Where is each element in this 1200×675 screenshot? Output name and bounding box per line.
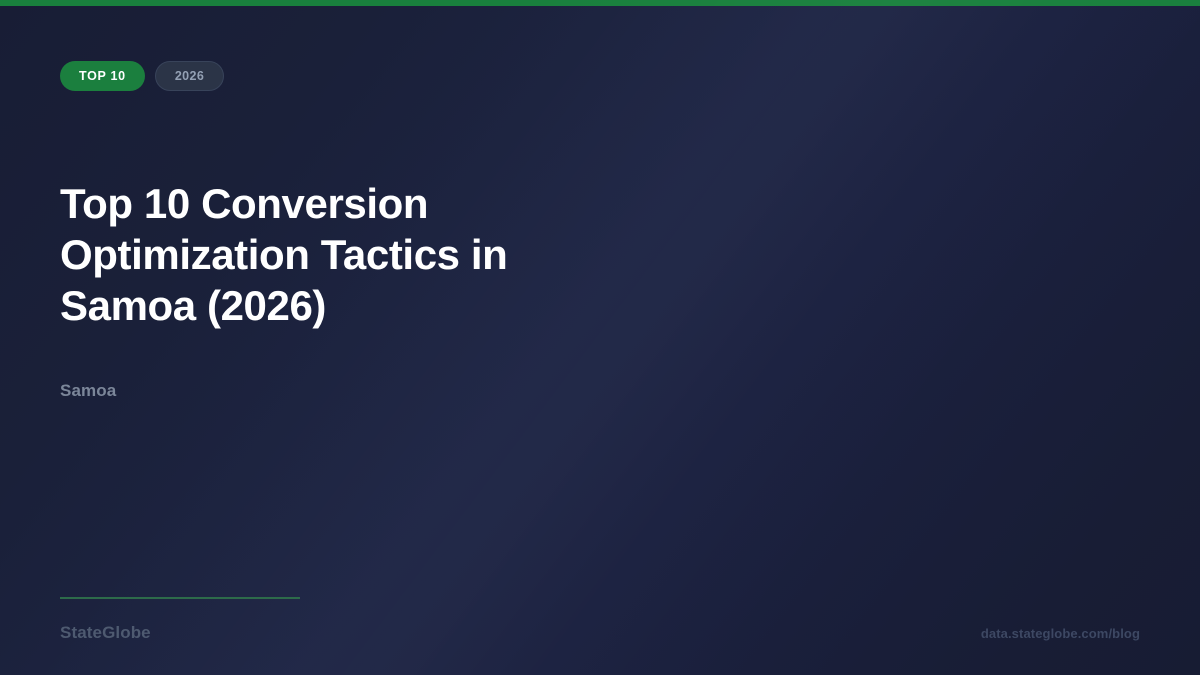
background-sheen xyxy=(0,0,1200,675)
badge-top-10[interactable]: TOP 10 xyxy=(60,61,145,91)
page-title: Top 10 Conversion Optimization Tactics i… xyxy=(60,178,620,331)
social-share-card: TOP 10 2026 Top 10 Conversion Optimizati… xyxy=(0,0,1200,675)
footer-divider xyxy=(60,597,300,599)
top-accent-bar xyxy=(0,0,1200,6)
badge-year[interactable]: 2026 xyxy=(155,61,224,91)
footer-brand: StateGlobe xyxy=(60,623,151,643)
footer-url[interactable]: data.stateglobe.com/blog xyxy=(981,626,1140,641)
page-subtitle: Samoa xyxy=(60,381,116,401)
badge-group: TOP 10 2026 xyxy=(60,61,224,91)
